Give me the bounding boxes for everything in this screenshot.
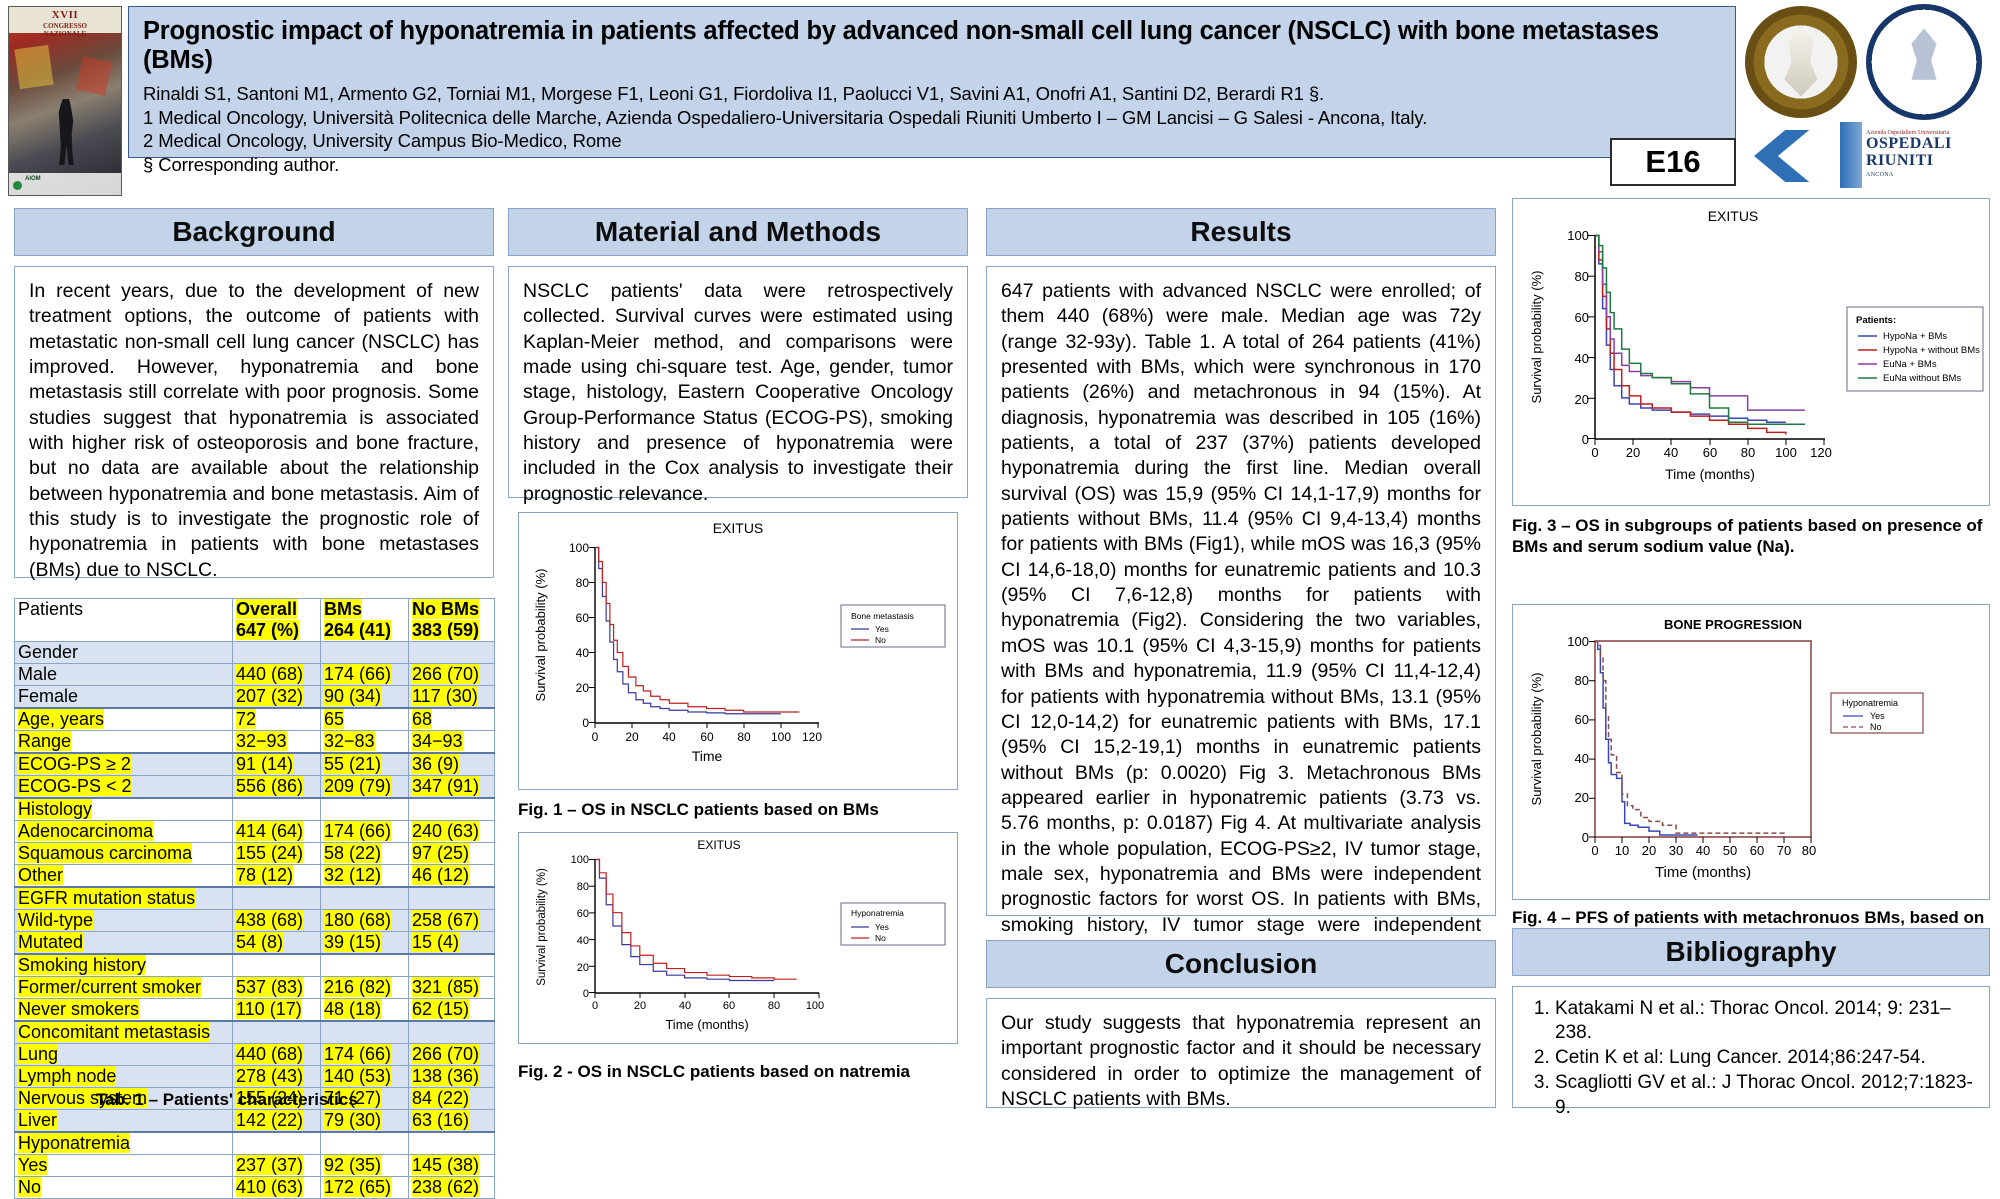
table-cell-nobms: 36 (9)	[409, 753, 495, 776]
svg-text:100: 100	[571, 854, 589, 866]
affiliation-2: 2 Medical Oncology, University Campus Bi…	[143, 129, 1721, 153]
svg-text:0: 0	[582, 716, 589, 730]
chevron-left-icon	[1754, 130, 1846, 182]
table-row: Histology	[15, 798, 495, 821]
table-cell-nobms	[409, 954, 495, 977]
svg-text:60: 60	[576, 611, 590, 625]
figure-2-box: EXITUS 100 80 60 40 20 0 0 20 40 60 80 1…	[518, 832, 958, 1044]
table-cell-bms	[321, 1021, 409, 1044]
table-cell-overall: 110 (17)	[233, 999, 321, 1022]
table-cell-label: No	[15, 1177, 233, 1199]
congress-poster-footer: AIOM	[9, 173, 121, 195]
table-cell-overall	[233, 1132, 321, 1155]
campus-biomedico-logo	[1866, 4, 1978, 116]
table-row: Adenocarcinoma414 (64)174 (66)240 (63)	[15, 821, 495, 843]
table-header-bms: BMs	[324, 599, 362, 619]
figure-3-box: EXITUS 100 80 60 40 20 0 0 20 40 60 80 1…	[1512, 198, 1990, 506]
figure-1-ylabel: Survival probability (%)	[533, 569, 548, 702]
table-cell-overall: 537 (83)	[233, 977, 321, 999]
table-cell-nobms: 34−93	[409, 731, 495, 754]
table-row: Yes237 (37)92 (35)145 (38)	[15, 1155, 495, 1177]
page-title: Prognostic impact of hyponatremia in pat…	[143, 17, 1721, 74]
figure-4-legend-yes: Yes	[1870, 711, 1885, 721]
figure-1-caption: Fig. 1 – OS in NSCLC patients based on B…	[518, 800, 958, 821]
table-cell-nobms	[409, 1021, 495, 1044]
svg-text:120: 120	[1810, 445, 1832, 460]
ospedali-riuniti-logo: Azienda Ospedaliero Universitaria OSPEDA…	[1748, 116, 1976, 196]
author-list: Rinaldi S1, Santoni M1, Armento G2, Torn…	[143, 82, 1721, 106]
table-cell-overall	[233, 954, 321, 977]
figure-3-kaplan-meier-chart: EXITUS 100 80 60 40 20 0 0 20 40 60 80 1…	[1513, 199, 1989, 505]
table-row: Female207 (32)90 (34)117 (30)	[15, 686, 495, 709]
table-cell-overall	[233, 887, 321, 910]
table-row: No410 (63)172 (65)238 (62)	[15, 1177, 495, 1199]
methods-section-heading: Material and Methods	[508, 208, 968, 256]
table-row: Other78 (12)32 (12)46 (12)	[15, 865, 495, 888]
table-row: Liver142 (22)79 (30)63 (16)	[15, 1110, 495, 1133]
svg-text:40: 40	[1696, 843, 1710, 858]
bibliography-section-body: Katakami N et al.: Thorac Oncol. 2014; 9…	[1512, 986, 1990, 1108]
figure-4-legend-no: No	[1870, 722, 1882, 732]
figure-3-legend-1: HypoNa + BMs	[1883, 331, 1947, 342]
figure-3-legend-3: EuNa + BMs	[1883, 359, 1937, 370]
table-header-overall: Overall	[236, 599, 297, 619]
svg-text:60: 60	[700, 730, 714, 744]
table-cell-bms	[321, 798, 409, 821]
person-silhouette-icon	[53, 99, 79, 165]
figure-4-ylabel: Survival probability (%)	[1529, 673, 1544, 806]
table-cell-nobms: 84 (22)	[409, 1088, 495, 1110]
conclusion-section-text: Our study suggests that hyponatremia rep…	[986, 998, 1496, 1108]
bibliography-item: Scagliotti GV et al.: J Thorac Oncol. 20…	[1555, 1071, 1981, 1119]
svg-text:60: 60	[1750, 843, 1764, 858]
univpm-logo	[1745, 6, 1853, 114]
figure-4-legend-title: Hyponatremia	[1842, 698, 1898, 708]
conclusion-section-heading: Conclusion	[986, 940, 1496, 988]
table-cell-label: Yes	[15, 1155, 233, 1177]
svg-text:20: 20	[1575, 790, 1589, 805]
aiom-dot-icon	[13, 181, 22, 190]
svg-text:80: 80	[1802, 843, 1816, 858]
table-cell-overall: 72	[233, 708, 321, 731]
logo-column-bar	[1840, 122, 1862, 188]
table-row: Hyponatremia	[15, 1132, 495, 1155]
table-cell-bms: 55 (21)	[321, 753, 409, 776]
table-header-bms-n: 264 (41)	[324, 620, 391, 640]
table-cell-label: EGFR mutation status	[15, 887, 233, 910]
km-curve-hypona-without-bms	[1595, 236, 1786, 435]
table-cell-nobms	[409, 798, 495, 821]
table-header-overall-n: 647 (%)	[236, 620, 299, 640]
table-cell-overall: 237 (37)	[233, 1155, 321, 1177]
table-cell-label: Female	[15, 686, 233, 709]
svg-text:80: 80	[768, 1000, 780, 1012]
table-cell-label: Histology	[15, 798, 233, 821]
table-cell-label: ECOG-PS ≥ 2	[15, 753, 233, 776]
svg-text:120: 120	[802, 730, 822, 744]
table-row: Concomitant metastasis	[15, 1021, 495, 1044]
table-cell-bms: 32−83	[321, 731, 409, 754]
aiom-footer-label: AIOM	[9, 173, 121, 182]
table-row: Range32−9332−8334−93	[15, 731, 495, 754]
figure-2-legend-no: No	[875, 933, 886, 943]
background-section-text: In recent years, due to the development …	[14, 266, 494, 578]
figure-2-caption: Fig. 2 - OS in NSCLC patients based on n…	[518, 1062, 978, 1083]
table-cell-overall: 278 (43)	[233, 1066, 321, 1088]
figure-3-caption: Fig. 3 – OS in subgroups of patients bas…	[1512, 516, 1990, 557]
figure-2-title: EXITUS	[697, 838, 740, 852]
svg-text:40: 40	[679, 1000, 691, 1012]
svg-text:80: 80	[1575, 673, 1589, 688]
table-cell-bms: 79 (30)	[321, 1110, 409, 1133]
table-cell-label: Squamous carcinoma	[15, 843, 233, 865]
table-cell-bms: 174 (66)	[321, 1044, 409, 1066]
table-row: Former/current smoker537 (83)216 (82)321…	[15, 977, 495, 999]
svg-text:60: 60	[1703, 445, 1717, 460]
svg-text:40: 40	[662, 730, 676, 744]
svg-text:100: 100	[1567, 228, 1589, 243]
figure-3-legend-4: EuNa without BMs	[1883, 373, 1961, 384]
congress-poster-image: XVII CONGRESSO NAZIONALE AIOM	[8, 6, 122, 196]
svg-text:40: 40	[577, 935, 589, 947]
figure-1-legend-title: Bone metastasis	[851, 611, 914, 621]
table-cell-overall	[233, 798, 321, 821]
svg-text:20: 20	[625, 730, 639, 744]
figure-1-legend-no: No	[875, 635, 886, 645]
table-cell-label: Former/current smoker	[15, 977, 233, 999]
table-cell-label: Adenocarcinoma	[15, 821, 233, 843]
svg-text:0: 0	[592, 730, 599, 744]
svg-text:100: 100	[771, 730, 791, 744]
bibliography-section-heading: Bibliography	[1512, 928, 1990, 976]
svg-text:0: 0	[592, 1000, 598, 1012]
graffiti-patch-red	[76, 56, 112, 95]
table-row: Lymph node278 (43)140 (53)138 (36)	[15, 1066, 495, 1088]
table-cell-nobms: 15 (4)	[409, 932, 495, 955]
svg-text:100: 100	[1567, 634, 1589, 649]
table-cell-overall: 155 (24)	[233, 843, 321, 865]
svg-text:80: 80	[576, 576, 590, 590]
table-cell-label: Gender	[15, 642, 233, 664]
svg-text:20: 20	[577, 962, 589, 974]
svg-text:60: 60	[723, 1000, 735, 1012]
table-cell-overall: 207 (32)	[233, 686, 321, 709]
km-curve-yes	[1595, 642, 1698, 836]
svg-text:40: 40	[576, 646, 590, 660]
figure-1-xlabel: Time	[692, 748, 723, 764]
methods-section-text: NSCLC patients' data were retrospectivel…	[508, 266, 968, 498]
figure-4-xlabel: Time (months)	[1655, 864, 1751, 881]
figure-3-legend-title: Patients:	[1856, 315, 1896, 326]
table-cell-bms: 65	[321, 708, 409, 731]
table-cell-nobms: 97 (25)	[409, 843, 495, 865]
svg-text:0: 0	[1591, 843, 1598, 858]
table-cell-nobms: 266 (70)	[409, 664, 495, 686]
table-cell-overall	[233, 1021, 321, 1044]
congress-number: XVII	[9, 9, 121, 22]
table-row: Gender	[15, 642, 495, 664]
table-cell-nobms: 240 (63)	[409, 821, 495, 843]
table-header-nobms-n: 383 (59)	[412, 620, 479, 640]
table-cell-nobms: 266 (70)	[409, 1044, 495, 1066]
bibliography-item: Katakami N et al.: Thorac Oncol. 2014; 9…	[1555, 997, 1981, 1045]
table-cell-label: Mutated	[15, 932, 233, 955]
table-cell-overall: 440 (68)	[233, 664, 321, 686]
poster-header: XVII CONGRESSO NAZIONALE AIOM Prognostic…	[0, 0, 2000, 200]
table-row: Mutated54 (8)39 (15)15 (4)	[15, 932, 495, 955]
km-curve-euna-without-bms	[1595, 236, 1805, 425]
figure-2-legend-yes: Yes	[875, 922, 889, 932]
svg-text:80: 80	[577, 881, 589, 893]
table-cell-nobms: 347 (91)	[409, 776, 495, 799]
abstract-id-badge: E16	[1610, 138, 1736, 186]
table-cell-bms: 174 (66)	[321, 821, 409, 843]
svg-text:0: 0	[583, 988, 589, 1000]
table-cell-overall: 78 (12)	[233, 865, 321, 888]
table-cell-bms: 90 (34)	[321, 686, 409, 709]
km-curve-euna-bms	[1595, 236, 1805, 411]
svg-text:20: 20	[576, 681, 590, 695]
table-header-patients: Patients	[15, 599, 233, 642]
table-cell-label: Never smokers	[15, 999, 233, 1022]
table-cell-bms: 48 (18)	[321, 999, 409, 1022]
table-cell-nobms: 238 (62)	[409, 1177, 495, 1199]
svg-text:20: 20	[1642, 843, 1656, 858]
table-cell-nobms: 258 (67)	[409, 910, 495, 932]
table-row: Lung440 (68)174 (66)266 (70)	[15, 1044, 495, 1066]
table-cell-bms: 58 (22)	[321, 843, 409, 865]
title-block: Prognostic impact of hyponatremia in pat…	[128, 6, 1736, 158]
svg-text:10: 10	[1615, 843, 1629, 858]
table-cell-bms: 92 (35)	[321, 1155, 409, 1177]
figure-2-kaplan-meier-chart: EXITUS 100 80 60 40 20 0 0 20 40 60 80 1…	[519, 833, 957, 1043]
table-cell-nobms: 63 (16)	[409, 1110, 495, 1133]
table-cell-overall: 414 (64)	[233, 821, 321, 843]
table-cell-bms: 180 (68)	[321, 910, 409, 932]
ospedali-city-label: ANCONA	[1866, 172, 1974, 178]
svg-text:30: 30	[1669, 843, 1683, 858]
figure-3-xlabel: Time (months)	[1665, 466, 1755, 482]
table-cell-nobms: 138 (36)	[409, 1066, 495, 1088]
congress-label-2: NAZIONALE	[9, 30, 121, 38]
table-cell-bms: 209 (79)	[321, 776, 409, 799]
svg-text:40: 40	[1575, 751, 1589, 766]
figure-4-title: BONE PROGRESSION	[1664, 617, 1802, 632]
table-row: EGFR mutation status	[15, 887, 495, 910]
table-cell-nobms: 145 (38)	[409, 1155, 495, 1177]
table-cell-label: Other	[15, 865, 233, 888]
congress-label-1: CONGRESSO	[9, 22, 121, 30]
svg-text:50: 50	[1723, 843, 1737, 858]
table-caption: Tab. 1 – Patients' characteristics	[96, 1090, 358, 1110]
figure-3-legend-2: HypoNa + without BMs	[1883, 345, 1980, 356]
table-row: Squamous carcinoma155 (24)58 (22)97 (25)	[15, 843, 495, 865]
table-cell-bms: 32 (12)	[321, 865, 409, 888]
table-cell-bms: 174 (66)	[321, 664, 409, 686]
svg-text:80: 80	[1741, 445, 1755, 460]
table-cell-nobms: 117 (30)	[409, 686, 495, 709]
figure-1-legend-yes: Yes	[875, 624, 889, 634]
table-cell-overall: 32−93	[233, 731, 321, 754]
table-cell-bms	[321, 954, 409, 977]
svg-text:100: 100	[569, 541, 589, 555]
table-cell-label: Lung	[15, 1044, 233, 1066]
table-cell-overall: 142 (22)	[233, 1110, 321, 1133]
affiliation-1: 1 Medical Oncology, Università Politecni…	[143, 106, 1721, 130]
table-cell-label: ECOG-PS < 2	[15, 776, 233, 799]
table-cell-bms	[321, 1132, 409, 1155]
km-curve-no	[1595, 642, 1784, 836]
ospedali-label-1: OSPEDALI	[1866, 136, 1974, 153]
km-curve-no	[595, 548, 799, 713]
results-section-heading: Results	[986, 208, 1496, 256]
table-cell-bms	[321, 642, 409, 664]
svg-text:100: 100	[806, 1000, 824, 1012]
svg-text:80: 80	[1575, 269, 1589, 284]
table-cell-label: Concomitant metastasis	[15, 1021, 233, 1044]
table-cell-nobms: 46 (12)	[409, 865, 495, 888]
table-row: ECOG-PS < 2556 (86)209 (79)347 (91)	[15, 776, 495, 799]
table-cell-label: Liver	[15, 1110, 233, 1133]
svg-text:0: 0	[1582, 432, 1589, 447]
table-cell-bms: 39 (15)	[321, 932, 409, 955]
svg-text:100: 100	[1775, 445, 1797, 460]
table-cell-bms: 172 (65)	[321, 1177, 409, 1199]
figure-2-ylabel: Survival probability (%)	[536, 868, 548, 986]
svg-text:80: 80	[737, 730, 751, 744]
table-cell-overall: 440 (68)	[233, 1044, 321, 1066]
table-cell-nobms	[409, 887, 495, 910]
svg-text:60: 60	[577, 908, 589, 920]
table-cell-overall: 410 (63)	[233, 1177, 321, 1199]
table-cell-label: Lymph node	[15, 1066, 233, 1088]
background-section-heading: Background	[14, 208, 494, 256]
ospedali-label-2: RIUNITI	[1866, 153, 1974, 170]
km-curve-no	[595, 860, 797, 980]
table-cell-nobms	[409, 642, 495, 664]
table-cell-nobms	[409, 1132, 495, 1155]
results-section-text: 647 patients with advanced NSCLC were en…	[986, 266, 1496, 916]
congress-poster-banner: XVII CONGRESSO NAZIONALE	[9, 7, 121, 33]
svg-text:40: 40	[1575, 351, 1589, 366]
figure-1-box: EXITUS 100 80 60 40 20 0 0 20 40 60 80 1…	[518, 512, 958, 790]
table-row: Age, years726568	[15, 708, 495, 731]
table-cell-label: Smoking history	[15, 954, 233, 977]
table-cell-label: Male	[15, 664, 233, 686]
svg-text:60: 60	[1575, 712, 1589, 727]
table-row: Never smokers110 (17)48 (18)62 (15)	[15, 999, 495, 1022]
figure-2-xlabel: Time (months)	[665, 1017, 748, 1032]
svg-text:20: 20	[1626, 445, 1640, 460]
svg-text:40: 40	[1664, 445, 1678, 460]
corresponding-author-note: § Corresponding author.	[143, 153, 1721, 177]
table-header-nobms: No BMs	[412, 599, 479, 619]
figure-4-kaplan-meier-chart: BONE PROGRESSION 100 80 60 40 20 0 0 10 …	[1513, 605, 1989, 899]
figure-2-legend-title: Hyponatremia	[851, 908, 904, 918]
svg-text:20: 20	[1575, 392, 1589, 407]
figure-1-kaplan-meier-chart: EXITUS 100 80 60 40 20 0 0 20 40 60 80 1…	[519, 513, 957, 789]
table-cell-label: Range	[15, 731, 233, 754]
svg-text:60: 60	[1575, 310, 1589, 325]
bibliography-item: Cetin K et al: Lung Cancer. 2014;86:247-…	[1555, 1046, 1981, 1070]
table-cell-bms	[321, 887, 409, 910]
table-row: ECOG-PS ≥ 291 (14)55 (21)36 (9)	[15, 753, 495, 776]
km-curve-yes	[595, 548, 781, 714]
svg-text:20: 20	[634, 1000, 646, 1012]
table-cell-overall: 91 (14)	[233, 753, 321, 776]
table-cell-bms: 140 (53)	[321, 1066, 409, 1088]
table-cell-overall: 54 (8)	[233, 932, 321, 955]
figure-1-title: EXITUS	[713, 520, 764, 536]
table-cell-overall: 438 (68)	[233, 910, 321, 932]
table-cell-overall	[233, 642, 321, 664]
table-row: Male440 (68)174 (66)266 (70)	[15, 664, 495, 686]
table-cell-label: Wild-type	[15, 910, 233, 932]
figure-4-box: BONE PROGRESSION 100 80 60 40 20 0 0 10 …	[1512, 604, 1990, 900]
table-row: Smoking history	[15, 954, 495, 977]
figure-3-title: EXITUS	[1708, 208, 1759, 224]
table-cell-nobms: 68	[409, 708, 495, 731]
table-cell-label: Hyponatremia	[15, 1132, 233, 1155]
table-cell-bms: 216 (82)	[321, 977, 409, 999]
graffiti-patch-yellow	[14, 45, 53, 89]
table-cell-label: Age, years	[15, 708, 233, 731]
svg-text:0: 0	[1591, 445, 1598, 460]
table-row: Wild-type438 (68)180 (68)258 (67)	[15, 910, 495, 932]
svg-text:0: 0	[1582, 830, 1589, 845]
figure-3-ylabel: Survival probability (%)	[1529, 271, 1544, 404]
table-cell-nobms: 321 (85)	[409, 977, 495, 999]
table-cell-nobms: 62 (15)	[409, 999, 495, 1022]
table-cell-overall: 556 (86)	[233, 776, 321, 799]
svg-text:70: 70	[1777, 843, 1791, 858]
